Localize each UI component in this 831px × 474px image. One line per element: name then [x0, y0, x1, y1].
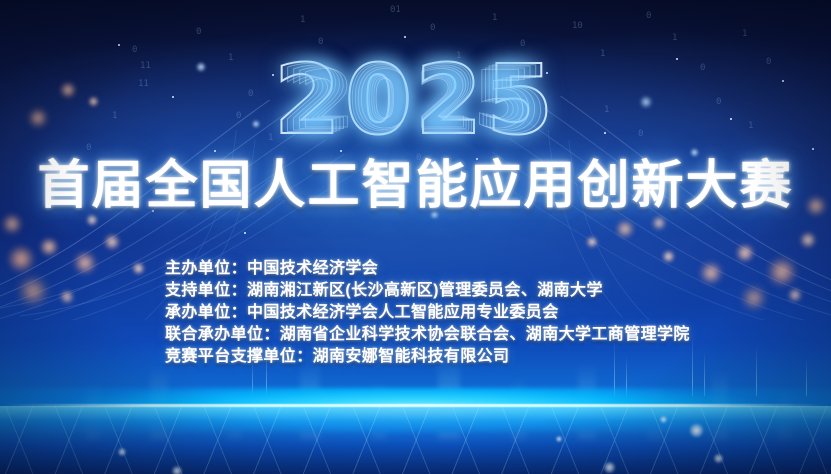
organizer-line: 支持单位：湖南湘江新区(长沙高新区)管理委员会、湖南大学 — [165, 280, 805, 302]
year-heading: 2025 2025 2025 2025 2025 — [0, 52, 831, 148]
stage-floor — [0, 406, 831, 474]
floor-grid — [0, 406, 831, 474]
svg-text:10: 10 — [572, 21, 583, 31]
page-title: 首届全国人工智能应用创新大赛 — [0, 160, 831, 212]
svg-text:1: 1 — [300, 15, 305, 25]
svg-text:1: 1 — [672, 33, 677, 43]
svg-text:0: 0 — [196, 27, 201, 37]
svg-text:1: 1 — [742, 29, 747, 39]
svg-text:0: 0 — [646, 11, 651, 21]
svg-text:0: 0 — [430, 23, 435, 33]
year-stripe-4: 2025 — [75, 61, 756, 140]
svg-text:01: 01 — [390, 5, 401, 15]
horizon-line — [0, 404, 831, 407]
organizer-line: 承办单位：中国技术经济学会人工智能应用专业委员会 — [165, 302, 805, 324]
poster-canvas: 01111 010 10 01 10 101 010 10 10 01 10 0… — [0, 0, 831, 474]
organizer-line: 主办单位：中国技术经济学会 — [165, 258, 805, 280]
svg-text:1: 1 — [492, 13, 497, 23]
